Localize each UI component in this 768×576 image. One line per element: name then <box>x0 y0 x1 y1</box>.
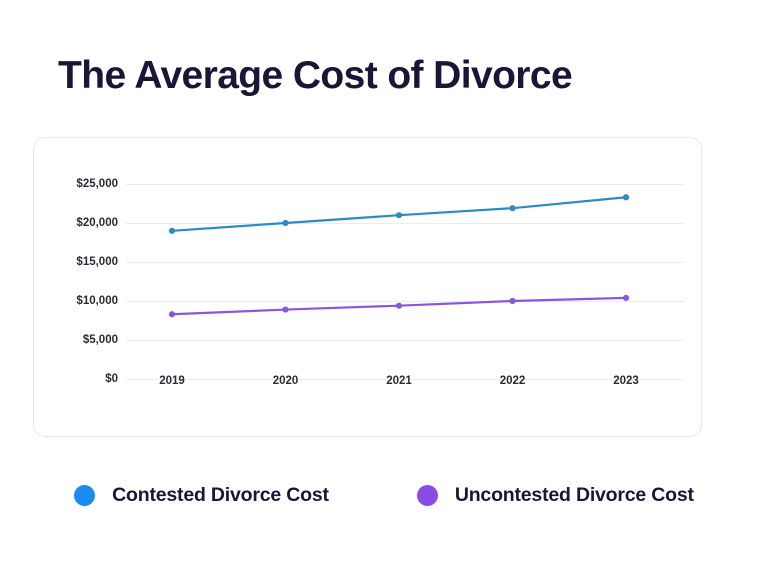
data-point[interactable] <box>282 306 288 312</box>
legend-item[interactable]: Contested Divorce Cost <box>74 484 329 507</box>
data-point[interactable] <box>509 298 515 304</box>
legend-label: Uncontested Divorce Cost <box>455 484 694 507</box>
legend-label: Contested Divorce Cost <box>112 484 329 507</box>
series-1 <box>169 194 629 234</box>
data-point[interactable] <box>396 303 402 309</box>
data-point[interactable] <box>623 194 629 200</box>
series-2 <box>169 295 629 318</box>
data-point[interactable] <box>509 205 515 211</box>
data-point[interactable] <box>282 220 288 226</box>
chart-plot-area: $25,000$20,000$15,000$10,000$5,000$0 201… <box>34 138 703 438</box>
chart-legend: Contested Divorce CostUncontested Divorc… <box>0 484 768 507</box>
chart-card: $25,000$20,000$15,000$10,000$5,000$0 201… <box>33 137 702 437</box>
data-point[interactable] <box>169 311 175 317</box>
line-series-group <box>34 138 703 438</box>
page-title: The Average Cost of Divorce <box>58 54 572 98</box>
data-point[interactable] <box>169 228 175 234</box>
legend-item[interactable]: Uncontested Divorce Cost <box>417 484 694 507</box>
data-point[interactable] <box>623 295 629 301</box>
data-point[interactable] <box>396 212 402 218</box>
legend-swatch-icon <box>74 485 95 506</box>
legend-swatch-icon <box>417 485 438 506</box>
